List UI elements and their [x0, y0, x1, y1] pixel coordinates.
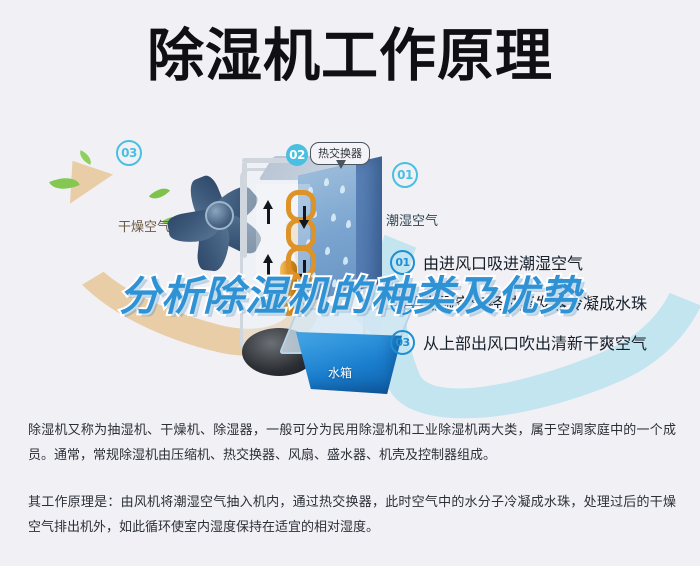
- list-item: 01 由进风口吸进潮湿空气: [390, 248, 690, 276]
- fan-hub: [205, 201, 234, 230]
- badge-03: 03: [116, 140, 142, 166]
- process-step-list: 01 由进风口吸进潮湿空气 02 潮湿空气经过蒸发器冷凝成水珠 03 从上部出风…: [390, 248, 690, 368]
- step-number: 01: [390, 250, 415, 275]
- dry-air-label: 干燥空气: [118, 216, 170, 235]
- badge-01: 01: [392, 162, 418, 188]
- flow-arrow-stem: [267, 208, 270, 224]
- paragraph-2: 其工作原理是：由风机将潮湿空气抽入机内，通过热交换器，此时空气中的水分子冷凝成水…: [28, 490, 676, 540]
- flow-arrow-up: [263, 254, 273, 263]
- callout-tail: [336, 160, 346, 169]
- water-tank: [296, 332, 402, 394]
- flow-arrow-down: [299, 274, 309, 283]
- page-title: 除湿机工作原理: [0, 28, 700, 85]
- step-number: 03: [390, 330, 415, 355]
- step-text: 从上部出风口吹出清新干爽空气: [423, 330, 647, 354]
- water-tank-label: 水箱: [328, 364, 352, 381]
- page-title-text: 除湿机工作原理: [147, 23, 553, 89]
- flow-arrow-down: [299, 220, 309, 229]
- flow-arrow-stem: [303, 260, 306, 275]
- list-item: 03 从上部出风口吹出清新干爽空气: [390, 328, 690, 356]
- body-copy: 除湿机又称为抽湿机、干燥机、除湿器，一般可分为民用除湿机和工业除湿机两大类，属于…: [28, 418, 676, 562]
- flow-arrow-stem: [267, 262, 270, 278]
- humid-air-label: 潮湿空气: [386, 210, 438, 229]
- badge-02: 02: [286, 144, 308, 166]
- paragraph-1: 除湿机又称为抽湿机、干燥机、除湿器，一般可分为民用除湿机和工业除湿机两大类，属于…: [28, 418, 676, 468]
- list-item: 02 潮湿空气经过蒸发器冷凝成水珠: [390, 288, 690, 316]
- step-text: 由进风口吸进潮湿空气: [423, 250, 583, 274]
- step-text: 潮湿空气经过蒸发器冷凝成水珠: [423, 290, 647, 314]
- flow-arrow-stem: [303, 206, 306, 221]
- flow-arrow-up: [263, 200, 273, 209]
- step-number: 02: [390, 290, 415, 315]
- refrigerant-pipe: [242, 162, 247, 258]
- refrigerant-circuit: [256, 184, 310, 304]
- infographic-page: 除湿机工作原理: [0, 0, 700, 566]
